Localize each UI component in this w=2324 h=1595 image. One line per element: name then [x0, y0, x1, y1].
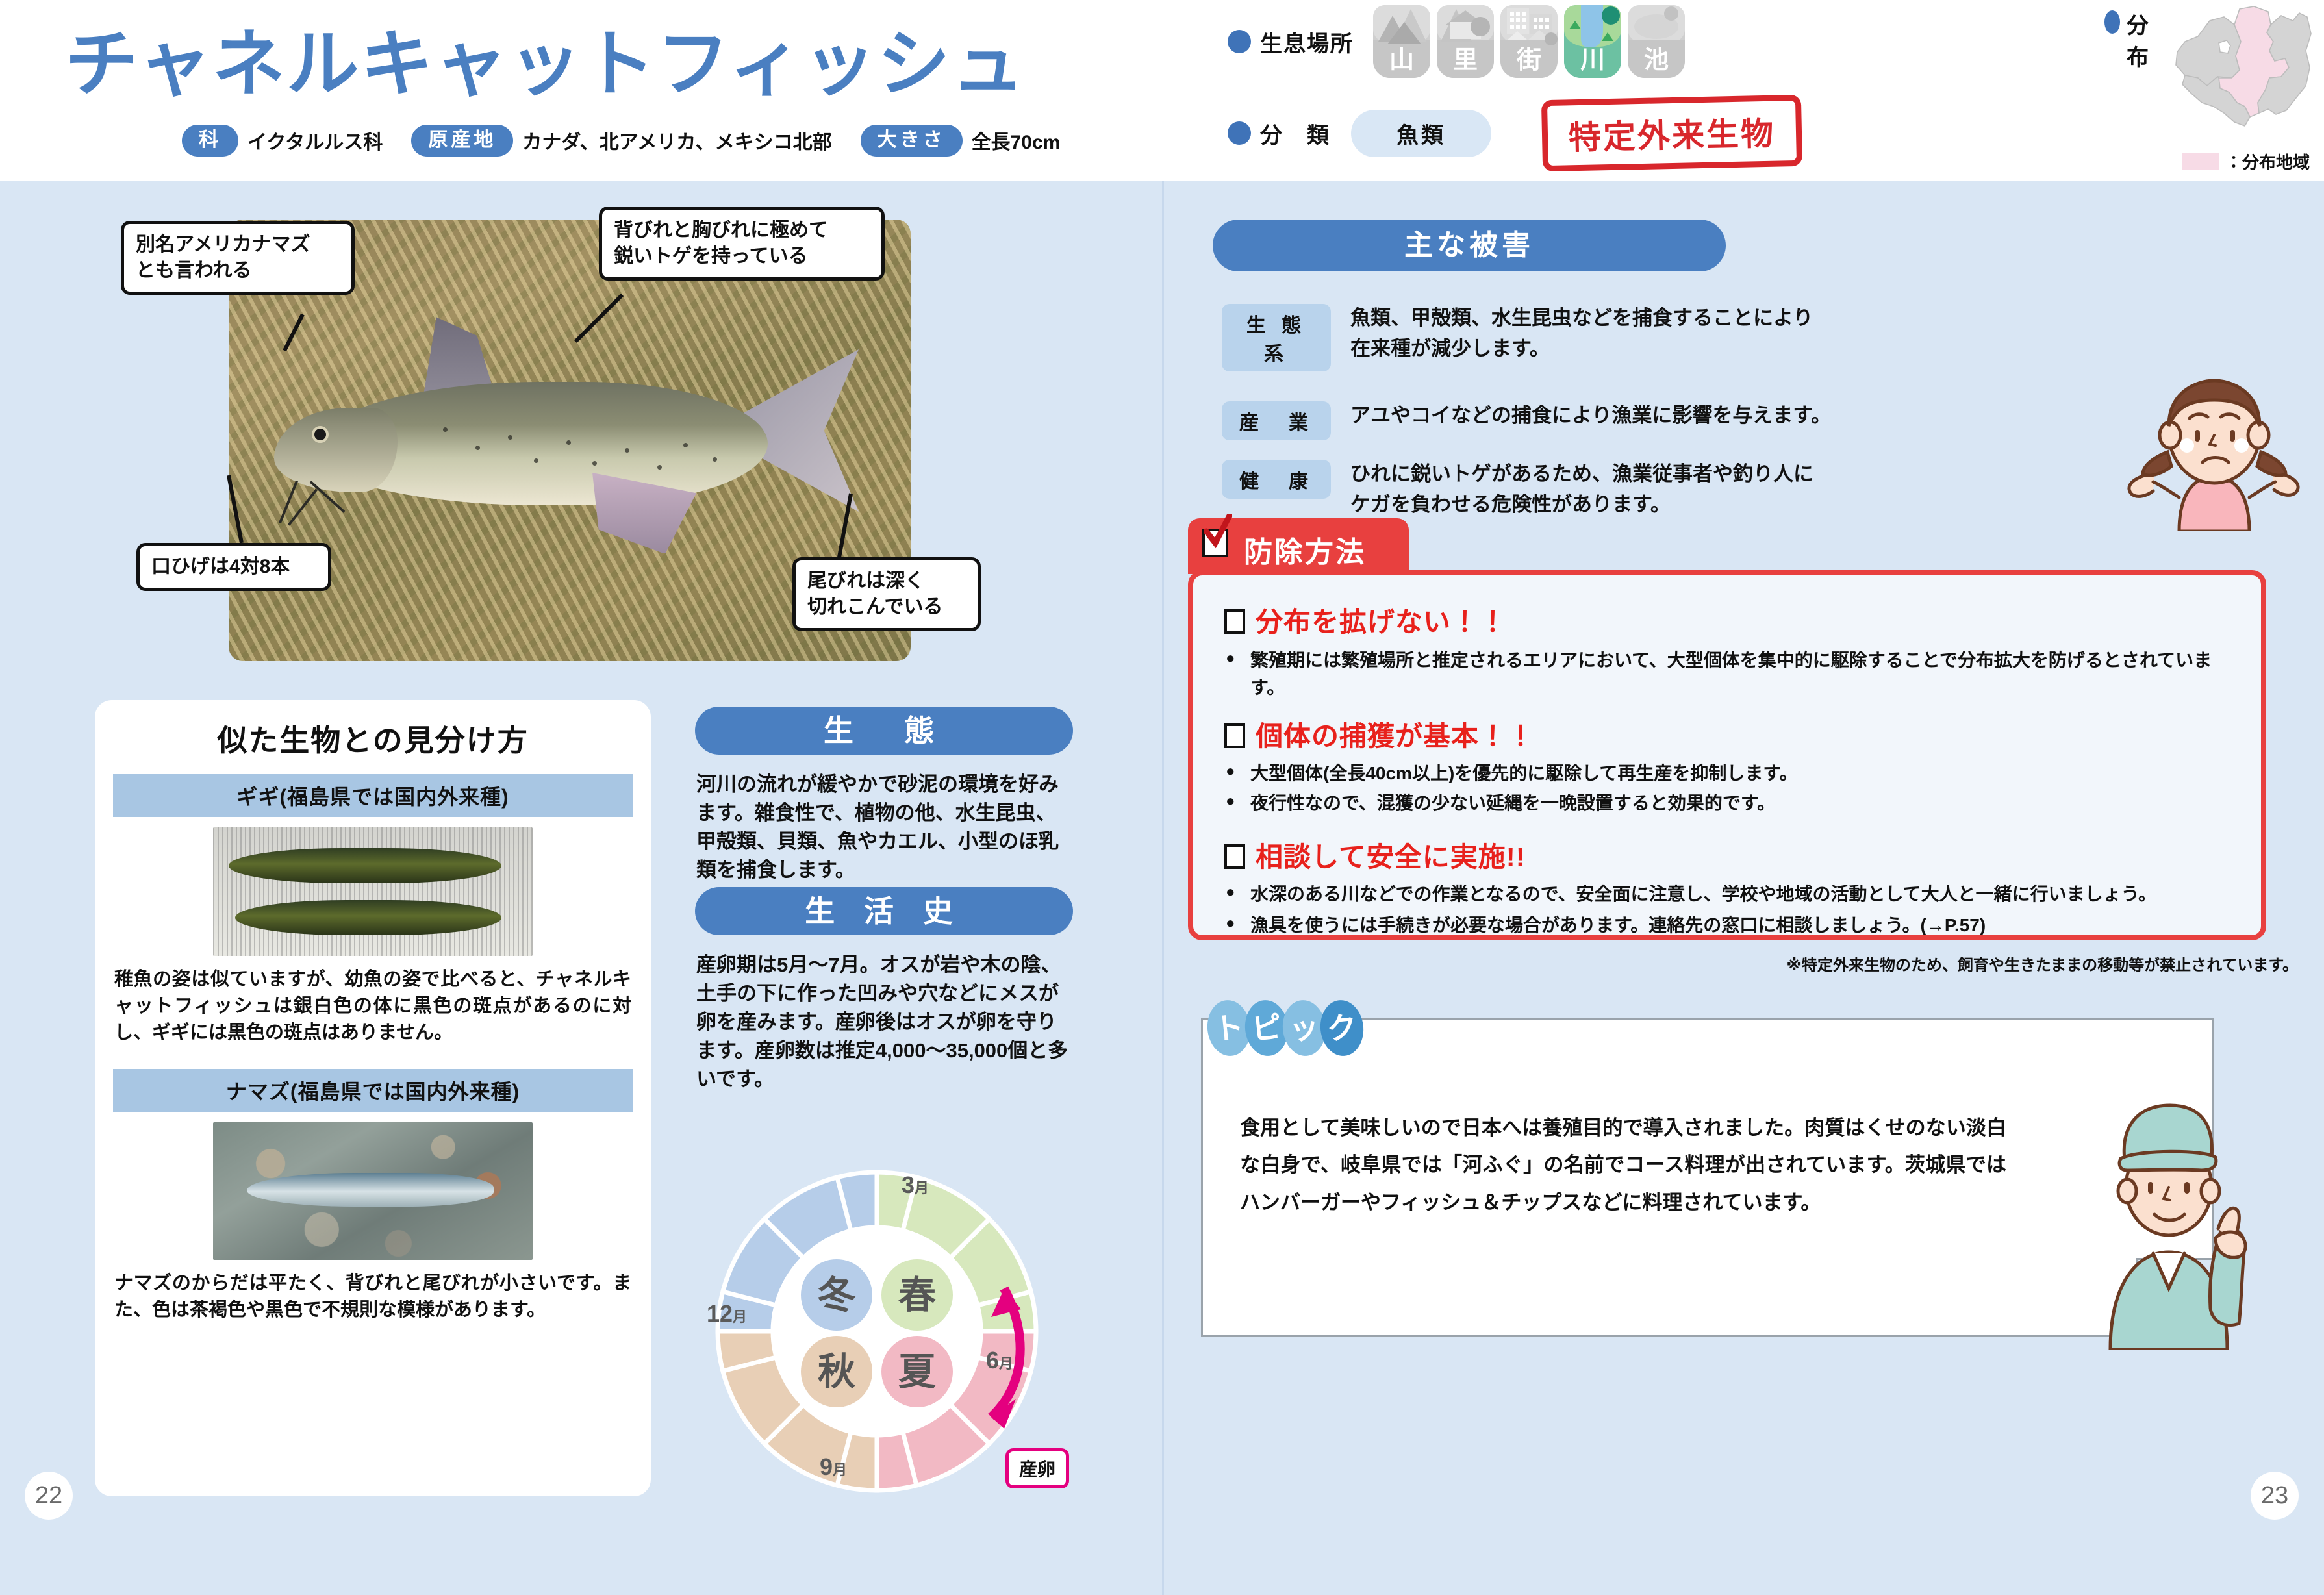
svg-text:冬: 冬 — [818, 1274, 856, 1316]
control-bullet-2-2: 夜行性なので、混獲の少ない延縄を一晩設置すると効果的です。 — [1250, 790, 2225, 817]
damage-text-ecosystem: 魚類、甲殻類、水生昆虫などを捕食することにより 在来種が減少します。 — [1350, 303, 2078, 364]
wheel-month-12: 12月 — [707, 1300, 747, 1327]
gigi-photo — [213, 827, 533, 956]
meta-label-origin: 原産地 — [411, 125, 513, 157]
callout-barbels: 口ひげは4対8本 — [136, 543, 331, 591]
page-number-right: 23 — [2251, 1472, 2299, 1520]
girl-character-illustration — [2117, 375, 2312, 531]
callout-alias: 別名アメリカナマズ とも言われる — [121, 221, 355, 295]
callout-tailfin: 尾びれは深く 切れこんでいる — [792, 557, 981, 631]
meta-value-size: 全長70cm — [972, 126, 1061, 155]
mountain-icon-label: 山 — [1373, 40, 1430, 75]
fish-eye — [312, 426, 329, 443]
classification-value: 魚類 — [1351, 110, 1491, 157]
control-heading-3: 相談して安全に実施!! — [1224, 835, 1526, 875]
legend-swatch — [2182, 153, 2219, 170]
topic-text: 食用として美味しいので日本へは養殖目的で導入されました。肉質はくせのない淡白な白… — [1240, 1109, 2006, 1221]
life-history-heading: 生 活 史 — [695, 887, 1073, 935]
distribution-row: 分布 — [2104, 5, 2324, 147]
fukushima-distribution-map — [2172, 5, 2324, 147]
meta-value-family: イクタルルス科 — [247, 126, 383, 155]
page-number-left: 22 — [25, 1472, 73, 1520]
control-bullet-2-1: 大型個体(全長40cm以上)を優先的に駆除して再生産を抑制します。 — [1250, 760, 2225, 787]
seasonal-wheel: 冬 春 秋 夏 3月 6月 9月 12月 — [695, 1162, 1072, 1513]
wheel-month-3: 3月 — [902, 1172, 929, 1199]
river-icon-label: 川 — [1564, 40, 1621, 75]
control-method-tab: 防除方法 — [1188, 518, 1409, 574]
legend-text: ：分布地域 — [2225, 149, 2310, 173]
topic-badge: ト ピ ッ ク — [1207, 1000, 1358, 1056]
map-legend: ：分布地域 — [2182, 149, 2310, 173]
header-right: 生息場所 山 里 — [1228, 0, 2324, 181]
control-bullet-3-1: 水深のある川などでの作業となるので、安全面に注意し、学校や地域の活動として大人と… — [1250, 881, 2225, 908]
mountain-icon: 山 — [1373, 5, 1430, 78]
similar-species-title: 似た生物との見分け方 — [95, 700, 651, 760]
bullet-dot-icon — [2104, 10, 2120, 34]
svg-text:秋: 秋 — [818, 1351, 855, 1393]
pond-icon-label: 池 — [1628, 40, 1685, 75]
village-icon-label: 里 — [1437, 40, 1494, 75]
life-history-text: 産卵期は5月〜7月。オスが岩や木の陰、土手の下に作った凹みや穴などにメスが卵を産… — [696, 951, 1072, 1094]
similar-band-namazu: ナマズ(福島県では国内外来種) — [113, 1069, 633, 1112]
damage-tag-industry: 産 業 — [1222, 401, 1331, 440]
distribution-label: 分布 — [2127, 8, 2158, 71]
damage-heading: 主な被害 — [1213, 220, 1726, 271]
bullet-dot-icon — [1228, 30, 1251, 53]
similar-text-namazu: ナマズのからだは平たく、背びれと尾びれが小さいです。また、色は茶褐色や黒色で不規… — [114, 1270, 631, 1324]
invasive-species-stamp: 特定外来生物 — [1541, 95, 1802, 171]
chef-character-illustration — [2091, 1090, 2279, 1350]
right-page: 主な被害 生 態 系 魚類、甲殻類、水生昆虫などを捕食することにより 在来種が減… — [1162, 181, 2324, 1595]
content-spread: 別名アメリカナマズ とも言われる 背びれと胸びれに極めて 鋭いトゲを持っている … — [0, 181, 2324, 1595]
namazu-photo — [213, 1122, 533, 1260]
town-icon-label: 街 — [1500, 40, 1558, 75]
similar-band-gigi: ギギ(福島県では国内外来種) — [113, 774, 633, 817]
habitat-icon-strip: 山 里 — [1373, 5, 1685, 78]
similar-text-gigi: 稚魚の姿は似ていますが、幼魚の姿で比べると、チャネルキャットフィッシュは銀白色の… — [114, 966, 631, 1047]
meta-label-size: 大きさ — [861, 125, 963, 157]
header-band: チャネルキャットフィッシュ 科 イクタルルス科 原産地 カナダ、北アメリカ、メキ… — [0, 0, 2324, 181]
control-heading-2: 個体の捕獲が基本！！ — [1224, 714, 1535, 754]
similar-species-card: 似た生物との見分け方 ギギ(福島県では国内外来種) 稚魚の姿は似ていますが、幼魚… — [95, 700, 651, 1496]
dorsal-fin — [423, 310, 495, 395]
fish-head — [274, 408, 398, 492]
damage-tag-ecosystem: 生 態 系 — [1222, 304, 1331, 371]
page-title: チャネルキャットフィッシュ — [65, 5, 1026, 110]
habitat-label: 生息場所 — [1260, 26, 1354, 58]
bullet-dot-icon — [1228, 121, 1251, 145]
meta-value-origin: カナダ、北アメリカ、メキシコ北部 — [522, 126, 831, 155]
control-note: ※特定外来生物のため、飼育や生きたままの移動等が禁止されています。 — [1787, 952, 2299, 975]
control-method-title: 防除方法 — [1244, 529, 1366, 570]
callout-spines: 背びれと胸びれに極めて 鋭いトゲを持っている — [599, 207, 885, 281]
damage-text-health: ひれに鋭いトゲがあるため、漁業従事者や釣り人に ケガを負わせる危険性があります。 — [1350, 458, 2084, 520]
meta-label-family: 科 — [182, 125, 238, 157]
spread-page: チャネルキャットフィッシュ 科 イクタルルス科 原産地 カナダ、北アメリカ、メキ… — [0, 0, 2324, 1595]
classification-label: 分 類 — [1260, 118, 1330, 149]
checkmark-icon — [1204, 514, 1232, 551]
ecology-text: 河川の流れが緩やかで砂泥の環境を好みます。雑食性で、植物の他、水生昆虫、甲殻類、… — [696, 770, 1072, 885]
species-meta-row: 科 イクタルルス科 原産地 カナダ、北アメリカ、メキシコ北部 大きさ 全長70c… — [182, 125, 1060, 157]
control-bullet-1-1: 繁殖期には繁殖場所と推定されるエリアにおいて、大型個体を集中的に駆除することで分… — [1250, 647, 2225, 701]
ecology-heading: 生 態 — [695, 707, 1073, 755]
damage-text-industry: アユやコイなどの捕食により漁業に影響を与えます。 — [1350, 400, 2117, 431]
svg-text:夏: 夏 — [898, 1351, 937, 1393]
village-icon: 里 — [1437, 5, 1494, 78]
spawning-tag: 産卵 — [1005, 1448, 1069, 1488]
pond-icon: 池 — [1628, 5, 1685, 78]
wheel-month-9: 9月 — [820, 1453, 847, 1481]
control-bullet-3-2: 漁具を使うには手続きが必要な場合があります。連絡先の窓口に相談しましょう。(→P… — [1250, 912, 2225, 939]
control-heading-1: 分布を拡げない！！ — [1224, 600, 1507, 640]
habitat-row: 生息場所 山 里 — [1228, 5, 1685, 78]
damage-tag-health: 健 康 — [1222, 460, 1331, 499]
town-icon: 街 — [1500, 5, 1558, 78]
classification-row: 分 類 魚類 特定外来生物 — [1228, 97, 1802, 169]
svg-text:春: 春 — [898, 1274, 936, 1316]
wheel-month-6: 6月 — [986, 1347, 1013, 1374]
river-icon: 川 — [1564, 5, 1621, 78]
